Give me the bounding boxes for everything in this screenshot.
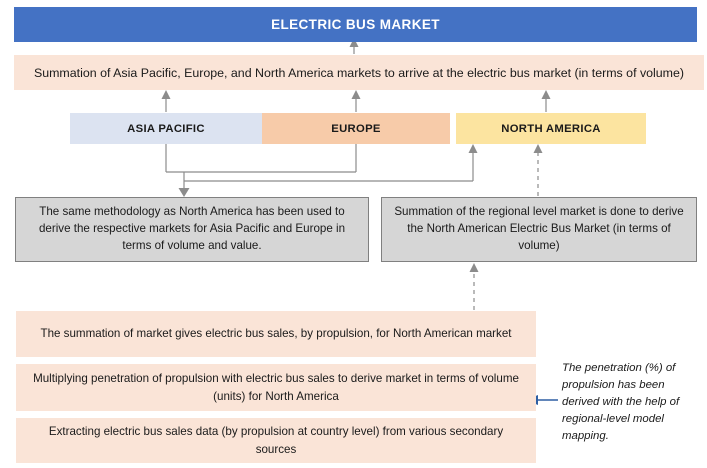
region-box-europe[interactable]: EUROPE [262,113,450,144]
methodology-box-north-america: Summation of the regional level market i… [381,197,697,262]
arrow-europe-to-summation [352,90,361,112]
methodology-box-asia-europe: The same methodology as North America ha… [15,197,369,262]
step-box-extracting-sales-data: Extracting electric bus sales data (by p… [16,418,536,463]
dashed-arrow-right-gray-box-to-north-america [534,144,543,196]
arrow-asia-to-summation [162,90,171,112]
side-note-penetration: The penetration (%) of propulsion has be… [562,360,704,446]
step-box-multiplying-penetration: Multiplying penetration of propulsion wi… [16,364,536,411]
page-title: ELECTRIC BUS MARKET [14,7,697,42]
connector-asia-europe-to-left-gray-box [166,144,356,197]
summation-statement: Summation of Asia Pacific, Europe, and N… [14,55,704,90]
diagram-canvas: ELECTRIC BUS MARKET Summation of Asia Pa… [0,0,707,468]
step-box-summation-of-market: The summation of market gives electric b… [16,311,536,357]
connector-left-gray-box-to-north-america [184,144,478,181]
dashed-arrow-step1-to-right-gray-box [470,263,479,310]
region-box-north-america[interactable]: NORTH AMERICA [456,113,646,144]
region-box-asia-pacific[interactable]: ASIA PACIFIC [70,113,262,144]
arrow-north-america-to-summation [542,90,551,112]
